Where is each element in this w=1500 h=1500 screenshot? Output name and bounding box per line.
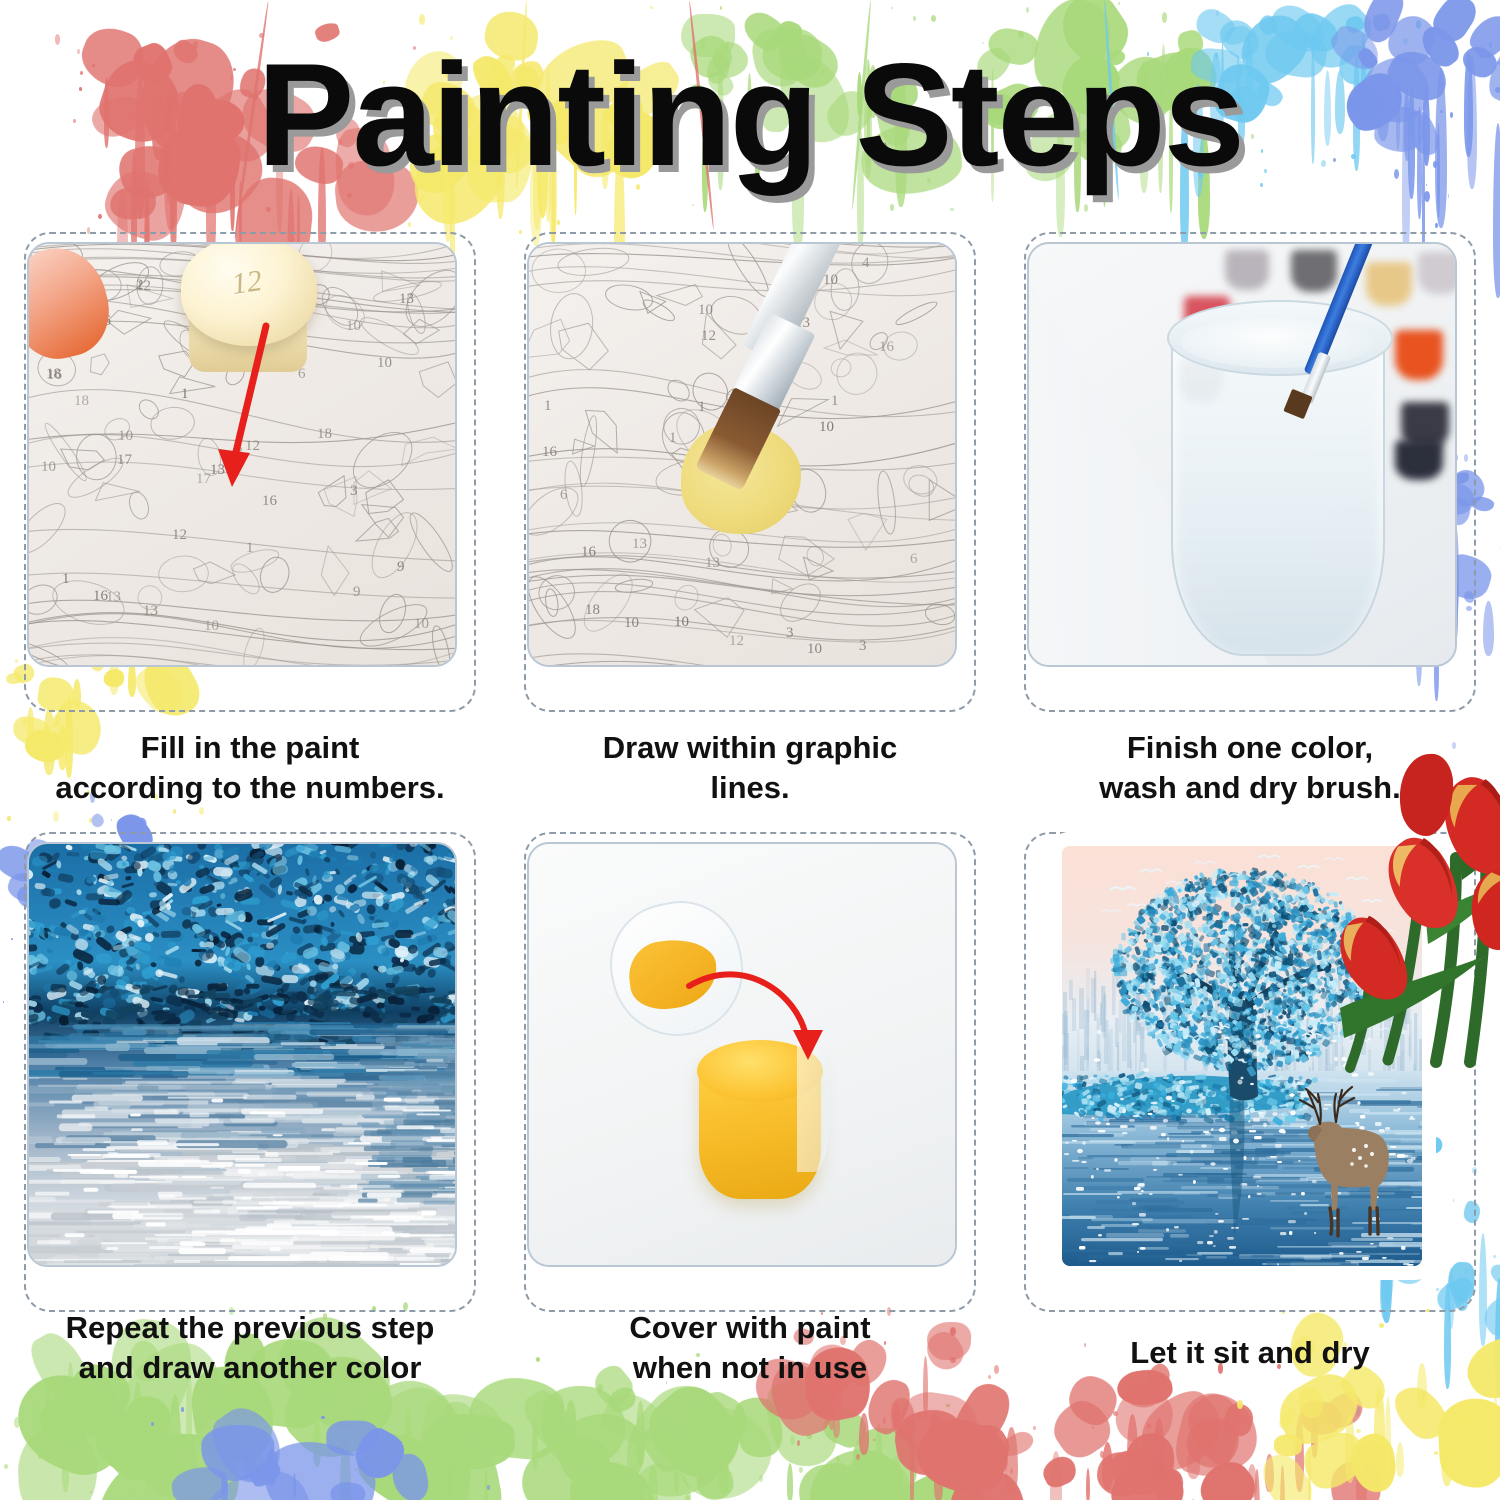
- painting-steps-infographic: Painting Steps 1817139189172131213101010…: [0, 0, 1500, 1500]
- paint-pot-blurred: [1291, 250, 1337, 292]
- caption-line: Repeat the previous step: [8, 1308, 492, 1348]
- paint-pot-blurred: [1395, 440, 1443, 480]
- step-card-6[interactable]: Let it sit and dry: [1000, 828, 1500, 1428]
- step-5-caption: Cover with paint when not in use: [508, 1308, 992, 1387]
- step-card-2[interactable]: 1310610121810161011311121616106116103391…: [500, 228, 1000, 828]
- step-card-1[interactable]: 1817139189172131213101010161861010131111…: [0, 228, 500, 828]
- step-card-5[interactable]: Cover with paint when not in use: [500, 828, 1000, 1428]
- caption-line: and draw another color: [8, 1348, 492, 1388]
- caption-line: according to the numbers.: [8, 768, 492, 808]
- step-6-caption: Let it sit and dry: [1008, 1333, 1492, 1373]
- paint-pot-blurred: [1225, 250, 1269, 290]
- step-card-4[interactable]: Repeat the previous step and draw anothe…: [0, 828, 500, 1428]
- caption-line: lines.: [508, 768, 992, 808]
- step-6-photo: [1062, 846, 1422, 1266]
- step-card-3[interactable]: Finish one color, wash and dry brush.: [1000, 228, 1500, 828]
- step-4-photo: [27, 842, 457, 1267]
- caption-line: Finish one color,: [1008, 728, 1492, 768]
- red-arrow-icon: [29, 244, 457, 667]
- step-3-photo: [1027, 242, 1457, 667]
- page-title: Painting Steps: [0, 38, 1500, 191]
- steps-grid: 1817139189172131213101010161861010131111…: [0, 228, 1500, 1428]
- paint-pot-blurred: [1366, 262, 1412, 306]
- step-5-photo: [527, 842, 957, 1267]
- step-2-photo: 1310610121810161011311121616106116103391…: [527, 242, 957, 667]
- caption-line: Draw within graphic: [508, 728, 992, 768]
- step-2-caption: Draw within graphic lines.: [508, 728, 992, 807]
- step-3-caption: Finish one color, wash and dry brush.: [1008, 728, 1492, 807]
- paint-pot-blurred: [1395, 330, 1443, 380]
- caption-line: wash and dry brush.: [1008, 768, 1492, 808]
- red-curved-arrow-icon: [529, 844, 957, 1267]
- step-1-caption: Fill in the paint according to the numbe…: [8, 728, 492, 807]
- paint-pot-blurred: [1418, 252, 1457, 294]
- caption-line: Fill in the paint: [8, 728, 492, 768]
- step-4-caption: Repeat the previous step and draw anothe…: [8, 1308, 492, 1387]
- caption-line: Let it sit and dry: [1008, 1333, 1492, 1373]
- cup-water: [1181, 316, 1375, 368]
- caption-line: when not in use: [508, 1348, 992, 1388]
- step-1-photo: 1817139189172131213101010161861010131111…: [27, 242, 457, 667]
- caption-line: Cover with paint: [508, 1308, 992, 1348]
